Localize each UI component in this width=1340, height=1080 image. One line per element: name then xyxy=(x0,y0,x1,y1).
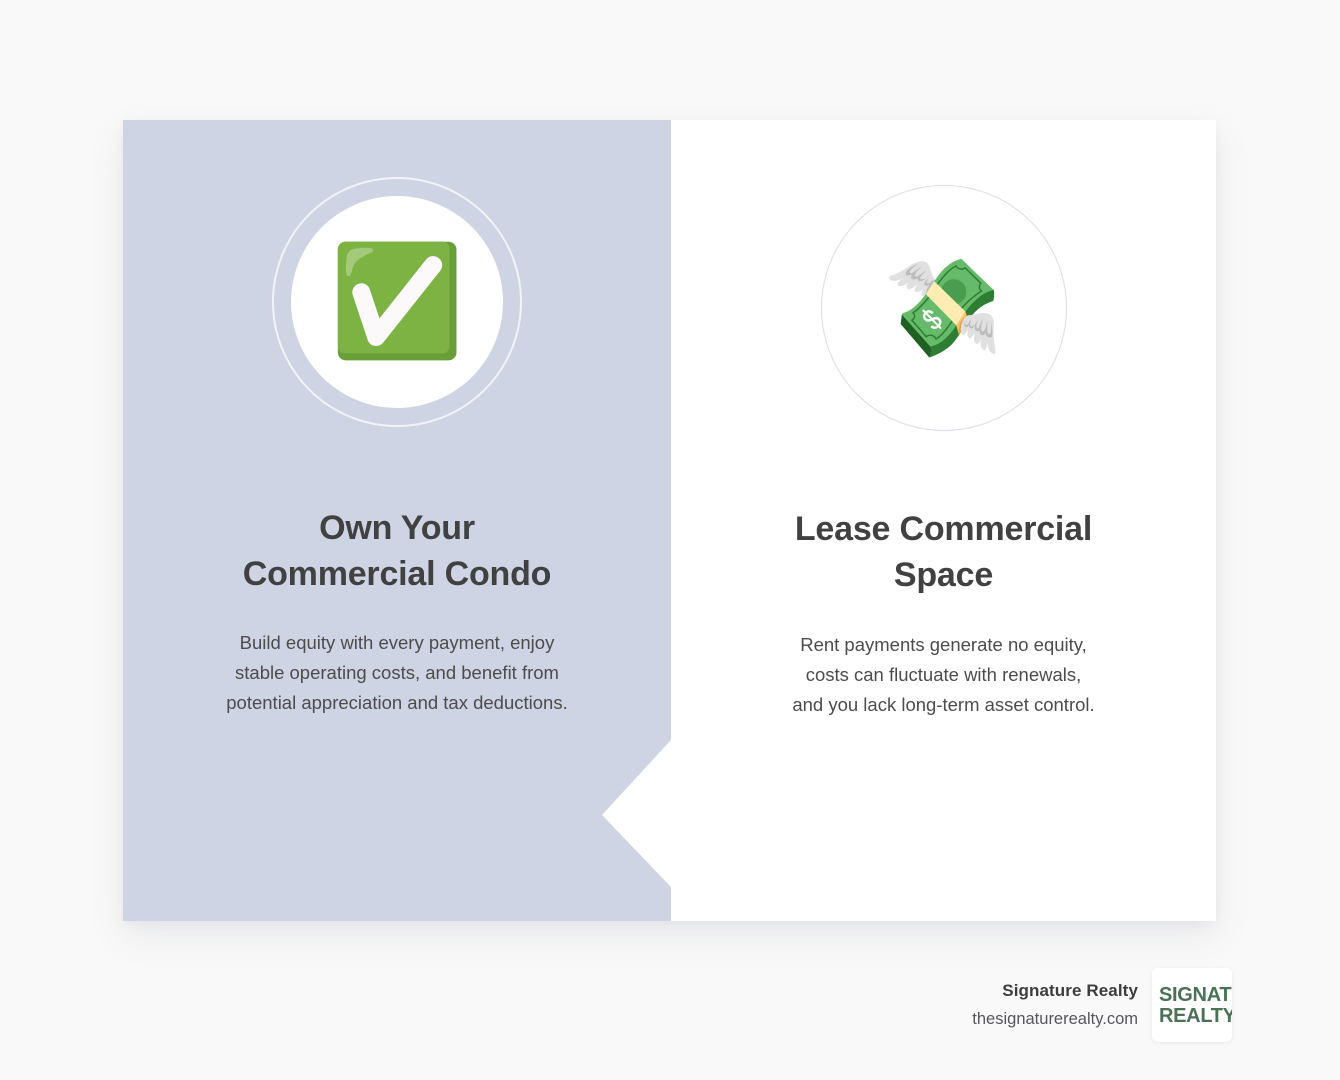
lease-description: Rent payments generate no equity, costs … xyxy=(729,630,1159,720)
white-heavy-check-mark-icon: ✅ xyxy=(330,248,464,356)
lease-heading: Lease Commercial Space xyxy=(795,506,1092,598)
money-with-wings-icon: 💸 xyxy=(884,260,1004,356)
brand-logo: SIGNATURE REALTY xyxy=(1152,968,1232,1042)
brand-logo-text: SIGNATURE REALTY xyxy=(1159,985,1232,1026)
lease-icon-medallion: 💸 xyxy=(821,185,1067,431)
brand-name: Signature Realty xyxy=(972,982,1138,999)
own-description: Build equity with every payment, enjoy s… xyxy=(187,628,607,718)
brand-text-block: Signature Realty thesignaturerealty.com xyxy=(972,982,1138,1028)
own-icon-medallion: ✅ xyxy=(272,177,522,427)
brand-website[interactable]: thesignaturerealty.com xyxy=(972,1011,1138,1028)
own-column: ✅ Own Your Commercial Condo Build equity… xyxy=(123,120,671,921)
brand-footer: Signature Realty thesignaturerealty.com … xyxy=(972,968,1232,1042)
comparison-card: ✅ Own Your Commercial Condo Build equity… xyxy=(123,120,1216,921)
own-heading: Own Your Commercial Condo xyxy=(243,505,552,597)
lease-column: 💸 Lease Commercial Space Rent payments g… xyxy=(671,120,1216,921)
